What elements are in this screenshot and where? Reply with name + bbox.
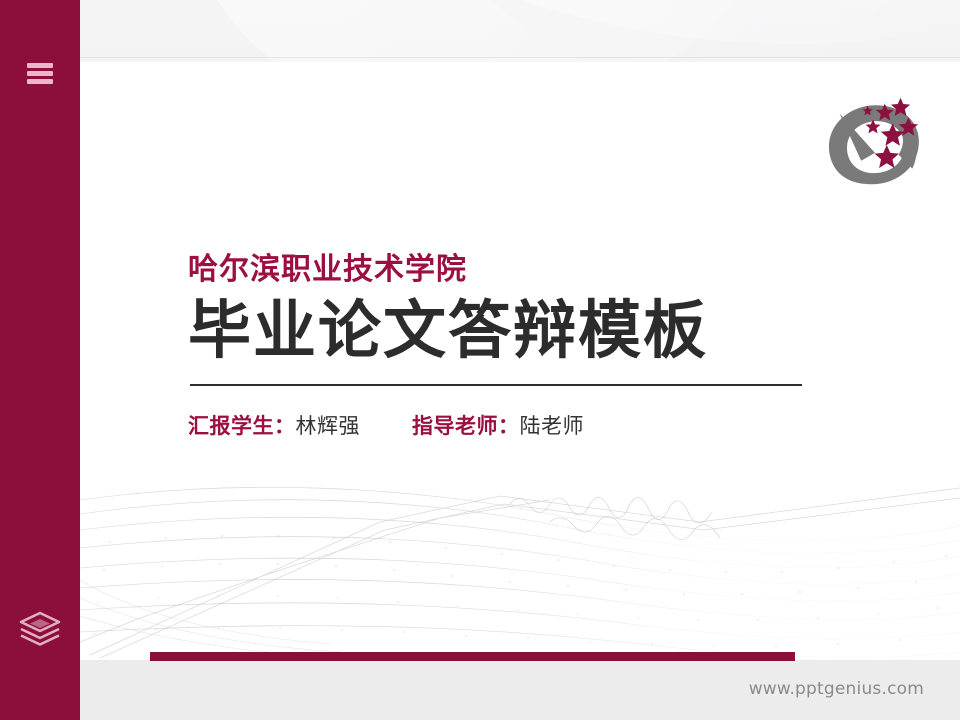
dotted-wireframe-wave-mesh	[80, 430, 960, 660]
title-slide: 哈尔滨职业技术学院 毕业论文答辩模板 汇报学生： 林辉强 指导老师： 陆老师 w…	[0, 0, 960, 720]
footer-url: www.pptgenius.com	[749, 679, 924, 699]
comet-stars-logo	[814, 84, 932, 202]
accent-bar	[150, 652, 795, 661]
stacked-layers-icon	[16, 608, 64, 648]
stacked-layers-button[interactable]	[0, 604, 80, 652]
title-text-block: 哈尔滨职业技术学院 毕业论文答辩模板 汇报学生： 林辉强 指导老师： 陆老师	[188, 252, 908, 440]
title-divider-rule	[190, 384, 802, 386]
byline-advisor-label: 指导老师：	[412, 410, 520, 440]
footer-bar: www.pptgenius.com	[80, 661, 960, 720]
byline-student: 汇报学生： 林辉强	[188, 410, 360, 440]
byline-advisor: 指导老师： 陆老师	[412, 410, 584, 440]
background-hairline-divider	[0, 57, 960, 58]
school-name: 哈尔滨职业技术学院	[188, 252, 908, 288]
byline-advisor-value: 陆老师	[520, 410, 585, 440]
byline-row: 汇报学生： 林辉强 指导老师： 陆老师	[188, 410, 908, 440]
page-title: 毕业论文答辩模板	[188, 294, 908, 368]
byline-student-label: 汇报学生：	[188, 410, 296, 440]
hamburger-menu-button[interactable]	[0, 56, 80, 90]
hamburger-menu-icon	[27, 63, 53, 84]
content-card: 哈尔滨职业技术学院 毕业论文答辩模板 汇报学生： 林辉强 指导老师： 陆老师	[80, 62, 960, 660]
left-sidebar-rail	[0, 0, 80, 720]
byline-student-value: 林辉强	[296, 410, 361, 440]
